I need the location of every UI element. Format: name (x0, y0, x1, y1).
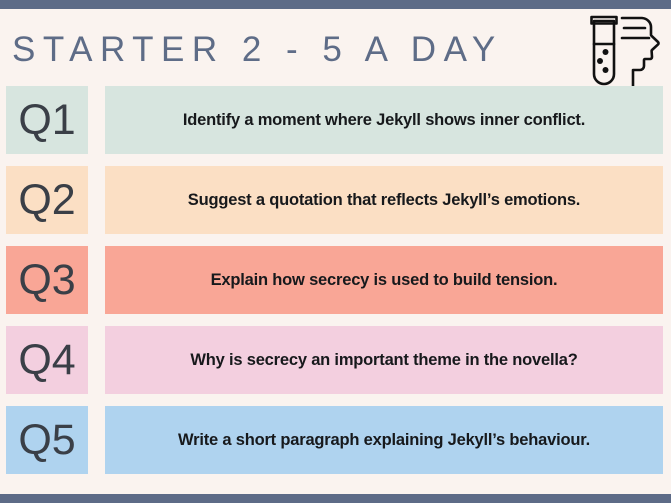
question-rows: Q1 Identify a moment where Jekyll shows … (0, 86, 671, 486)
question-text: Why is secrecy an important theme in the… (190, 351, 577, 370)
question-number-badge[interactable]: Q2 (6, 166, 88, 234)
question-number-badge[interactable]: Q4 (6, 326, 88, 394)
question-text-box[interactable]: Why is secrecy an important theme in the… (105, 326, 663, 394)
question-text-box[interactable]: Explain how secrecy is used to build ten… (105, 246, 663, 314)
question-number-badge[interactable]: Q5 (6, 406, 88, 474)
question-number-badge[interactable]: Q3 (6, 246, 88, 314)
top-accent-bar (0, 0, 671, 9)
test-tube-and-head-profile-icon (583, 11, 665, 91)
bottom-accent-bar (0, 494, 671, 503)
question-row: Q1 Identify a moment where Jekyll shows … (0, 86, 671, 154)
slide-header: STARTER 2 - 5 A DAY (0, 9, 671, 86)
question-row: Q5 Write a short paragraph explaining Je… (0, 406, 671, 474)
question-text: Write a short paragraph explaining Jekyl… (178, 431, 590, 450)
page-title: STARTER 2 - 5 A DAY (12, 30, 503, 70)
slide-canvas: STARTER 2 - 5 A DAY (0, 0, 671, 503)
question-text: Explain how secrecy is used to build ten… (211, 271, 558, 290)
question-text: Identify a moment where Jekyll shows inn… (183, 111, 585, 130)
question-text: Suggest a quotation that reflects Jekyll… (188, 191, 580, 210)
question-text-box[interactable]: Identify a moment where Jekyll shows inn… (105, 86, 663, 154)
question-row: Q4 Why is secrecy an important theme in … (0, 326, 671, 394)
question-row: Q2 Suggest a quotation that reflects Jek… (0, 166, 671, 234)
question-number-badge[interactable]: Q1 (6, 86, 88, 154)
question-text-box[interactable]: Write a short paragraph explaining Jekyl… (105, 406, 663, 474)
question-row: Q3 Explain how secrecy is used to build … (0, 246, 671, 314)
question-text-box[interactable]: Suggest a quotation that reflects Jekyll… (105, 166, 663, 234)
